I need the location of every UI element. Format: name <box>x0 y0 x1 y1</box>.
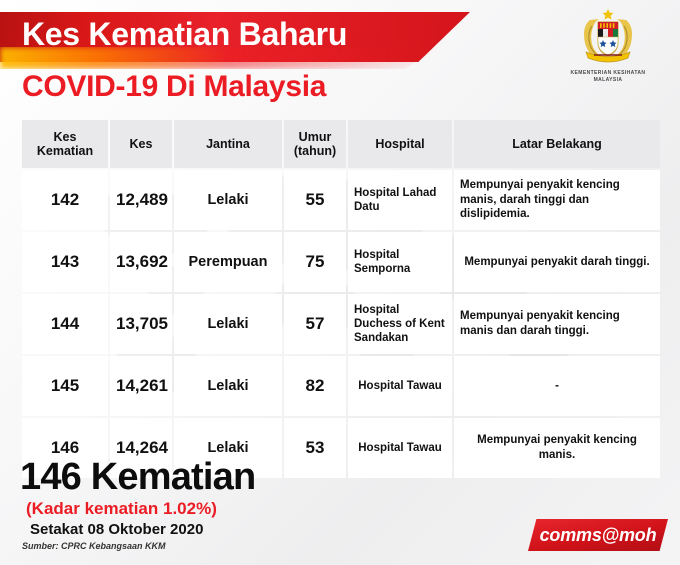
cell-kes-kematian: 142 <box>22 170 108 230</box>
page-subtitle: COVID-19 Di Malaysia <box>22 70 326 104</box>
cell-kes: 12,489 <box>110 170 172 230</box>
cell-hospital: Hospital Duchess of Kent Sandakan <box>348 294 452 354</box>
cell-kes: 14,261 <box>110 356 172 416</box>
deaths-table: Kes Kematian Kes Jantina Umur (tahun) Ho <box>20 118 662 480</box>
column-header-umur-line1: Umur <box>299 130 332 144</box>
comms-moh-badge: comms@moh <box>528 519 668 551</box>
cell-latar-belakang: Mempunyai penyakit darah tinggi. <box>454 232 660 292</box>
ministry-caption: KEMENTERIAN KESIHATAN MALAYSIA <box>554 70 662 84</box>
column-header-umur-line2: (tahun) <box>294 144 336 158</box>
ministry-caption-line1: KEMENTERIAN KESIHATAN <box>554 70 662 77</box>
cell-kes-kematian: 143 <box>22 232 108 292</box>
column-header-kes-kematian: Kes Kematian <box>22 120 108 168</box>
cell-jantina: Lelaki <box>174 294 282 354</box>
page-title: Kes Kematian Baharu <box>22 16 347 53</box>
cell-umur: 75 <box>284 232 346 292</box>
column-header-umur: Umur (tahun) <box>284 120 346 168</box>
malaysia-coat-of-arms-icon <box>576 6 640 64</box>
cell-kes-kematian: 144 <box>22 294 108 354</box>
cell-latar-belakang: Mempunyai penyakit kencing manis, darah … <box>454 170 660 230</box>
poster-header: Kes Kematian Baharu COVID-19 Di Malaysia <box>0 0 680 112</box>
column-header-kes-kematian-line2: Kematian <box>37 144 93 158</box>
cell-kes-kematian: 145 <box>22 356 108 416</box>
column-header-latar-belakang: Latar Belakang <box>454 120 660 168</box>
column-header-jantina-line1: Jantina <box>206 137 250 151</box>
cell-jantina: Perempuan <box>174 232 282 292</box>
column-header-kes: Kes <box>110 120 172 168</box>
infographic-poster: Kes Kematian Baharu COVID-19 Di Malaysia <box>0 0 680 565</box>
ministry-logo: KEMENTERIAN KESIHATAN MALAYSIA <box>554 6 662 84</box>
column-header-jantina: Jantina <box>174 120 282 168</box>
cell-kes: 13,705 <box>110 294 172 354</box>
cell-latar-belakang: - <box>454 356 660 416</box>
table-row: 145 14,261 Lelaki 82 Hospital Tawau - <box>22 356 660 416</box>
table-row: 143 13,692 Perempuan 75 Hospital Semporn… <box>22 232 660 292</box>
column-header-kes-kematian-line1: Kes <box>54 130 77 144</box>
cell-jantina: Lelaki <box>174 170 282 230</box>
cell-hospital: Hospital Tawau <box>348 356 452 416</box>
cell-hospital: Hospital Lahad Datu <box>348 170 452 230</box>
deaths-table-container: Kes Kematian Kes Jantina Umur (tahun) Ho <box>20 118 662 480</box>
ministry-caption-line2: MALAYSIA <box>554 77 662 84</box>
cell-hospital: Hospital Semporna <box>348 232 452 292</box>
table-row: 142 12,489 Lelaki 55 Hospital Lahad Datu… <box>22 170 660 230</box>
column-header-kes-line1: Kes <box>130 137 153 151</box>
fatality-rate-label: (Kadar kematian 1.02%) <box>20 499 660 519</box>
table-row: 144 13,705 Lelaki 57 Hospital Duchess of… <box>22 294 660 354</box>
cell-umur: 57 <box>284 294 346 354</box>
comms-moh-badge-label: comms@moh <box>540 525 657 546</box>
column-header-latar-belakang-line1: Latar Belakang <box>512 137 602 151</box>
cell-latar-belakang: Mempunyai penyakit kencing manis dan dar… <box>454 294 660 354</box>
cell-kes: 13,692 <box>110 232 172 292</box>
cell-jantina: Lelaki <box>174 356 282 416</box>
total-deaths-label: 146 Kematian <box>20 458 660 498</box>
table-header-row: Kes Kematian Kes Jantina Umur (tahun) Ho <box>22 120 660 168</box>
cell-umur: 55 <box>284 170 346 230</box>
cell-umur: 82 <box>284 356 346 416</box>
column-header-hospital-line1: Hospital <box>375 137 424 151</box>
column-header-hospital: Hospital <box>348 120 452 168</box>
